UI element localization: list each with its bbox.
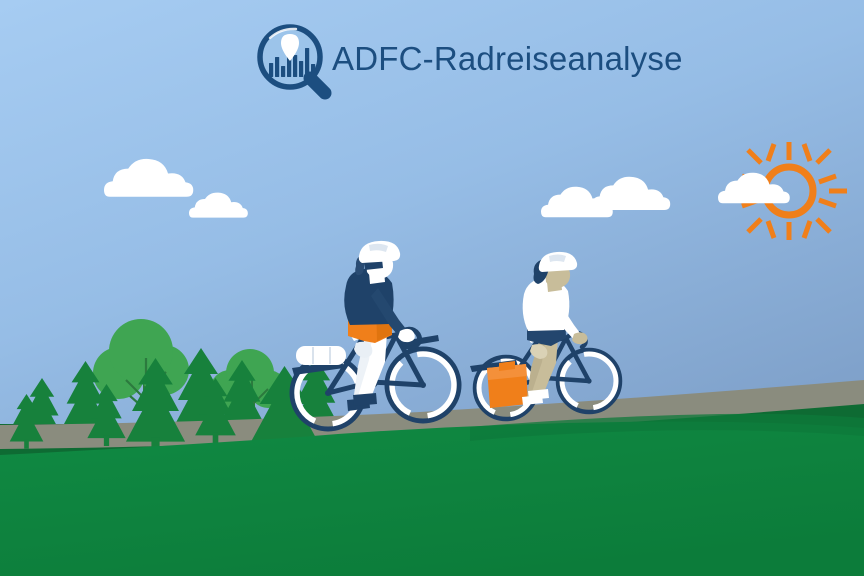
illustration-canvas: ADFC-Radreiseanalyse <box>0 0 864 576</box>
luggage-roll-white <box>296 346 346 365</box>
rider2-hand <box>572 332 587 344</box>
page-title: ADFC-Radreiseanalyse <box>332 40 683 77</box>
rider2-helmet-vent <box>549 255 566 263</box>
rider1-shoe-front <box>353 393 377 406</box>
pannier-bag-orange <box>487 361 528 408</box>
scene-svg: ADFC-Radreiseanalyse <box>0 0 864 576</box>
rider1-hand <box>398 329 415 342</box>
